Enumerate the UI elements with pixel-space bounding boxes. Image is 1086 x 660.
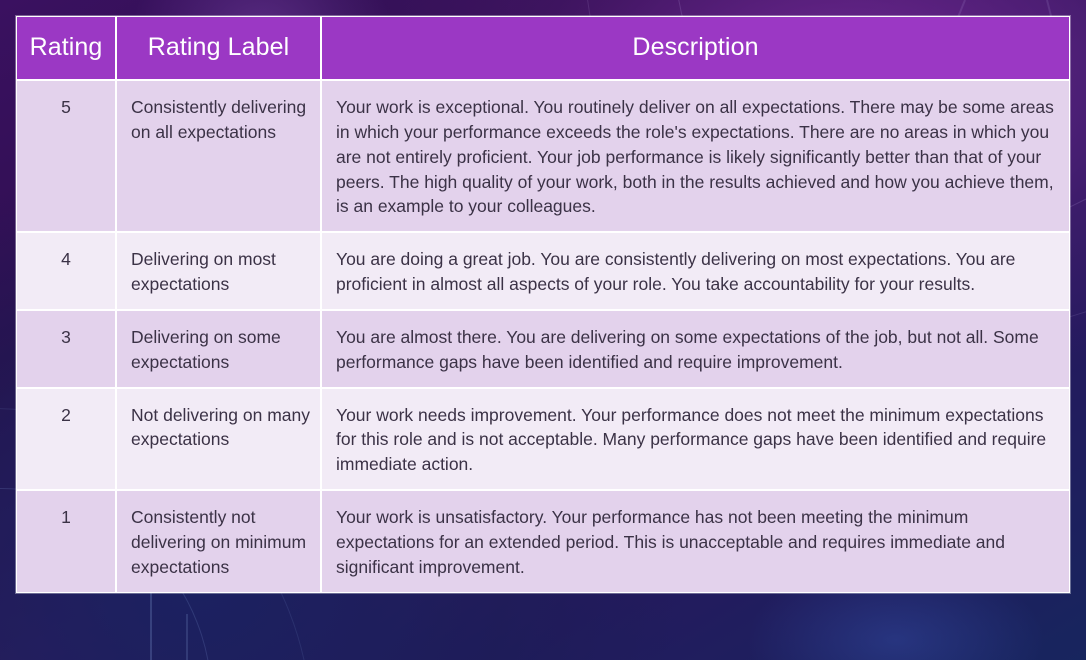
- table-row: 4 Delivering on most expectations You ar…: [16, 232, 1070, 310]
- table-header-row: Rating Rating Label Description: [16, 16, 1070, 80]
- cell-rating-label: Delivering on most expectations: [116, 232, 321, 310]
- cell-description: You are almost there. You are delivering…: [321, 310, 1070, 388]
- column-header-rating-label: Rating Label: [116, 16, 321, 80]
- table-body: 5 Consistently delivering on all expecta…: [16, 80, 1070, 593]
- cell-rating-label: Not delivering on many expectations: [116, 388, 321, 491]
- cell-rating: 2: [16, 388, 116, 491]
- cell-rating: 1: [16, 490, 116, 593]
- table-row: 2 Not delivering on many expectations Yo…: [16, 388, 1070, 491]
- background-line-decoration: [150, 590, 152, 660]
- cell-description: Your work needs improvement. Your perfor…: [321, 388, 1070, 491]
- rating-scale-table: Rating Rating Label Description 5 Consis…: [16, 16, 1070, 593]
- cell-description: You are doing a great job. You are consi…: [321, 232, 1070, 310]
- cell-description: Your work is unsatisfactory. Your perfor…: [321, 490, 1070, 593]
- cell-rating-label: Consistently not delivering on minimum e…: [116, 490, 321, 593]
- slide-canvas: Rating Rating Label Description 5 Consis…: [0, 0, 1086, 660]
- cell-rating-label: Consistently delivering on all expectati…: [116, 80, 321, 232]
- table-row: 3 Delivering on some expectations You ar…: [16, 310, 1070, 388]
- column-header-description: Description: [321, 16, 1070, 80]
- table-row: 5 Consistently delivering on all expecta…: [16, 80, 1070, 232]
- cell-rating: 4: [16, 232, 116, 310]
- cell-rating: 3: [16, 310, 116, 388]
- cell-rating: 5: [16, 80, 116, 232]
- background-line-decoration: [186, 614, 188, 660]
- cell-rating-label: Delivering on some expectations: [116, 310, 321, 388]
- cell-description: Your work is exceptional. You routinely …: [321, 80, 1070, 232]
- column-header-rating: Rating: [16, 16, 116, 80]
- table-header: Rating Rating Label Description: [16, 16, 1070, 80]
- table-row: 1 Consistently not delivering on minimum…: [16, 490, 1070, 593]
